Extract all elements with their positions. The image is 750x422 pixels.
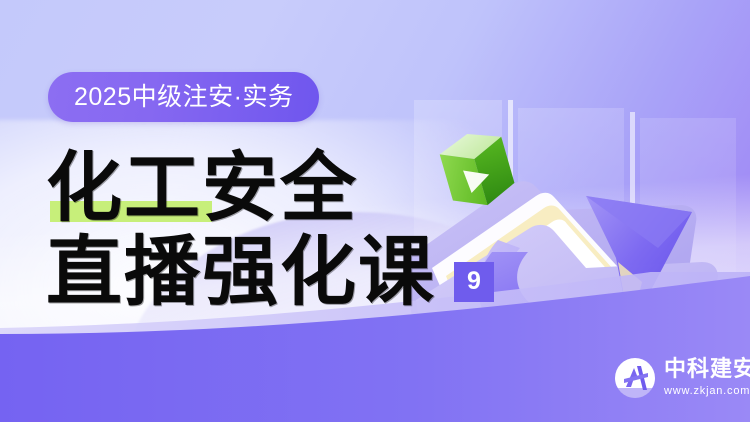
brand-name: 中科建安 (664, 356, 750, 381)
brand-logo[interactable]: 中科建安 www.zkjan.com (614, 357, 750, 399)
headline-row-2: 直播强化课 9 (46, 236, 494, 310)
brand-url: www.zkjan.com (664, 385, 750, 397)
headline-line-1: 化工安全 (46, 152, 358, 226)
brand-text: 中科建安 www.zkjan.com (664, 357, 750, 399)
headline-line-2: 直播强化课 (46, 236, 436, 310)
course-tag-label: 2025中级注安·实务 (74, 85, 293, 110)
zkjan-circle-logo-icon (614, 357, 656, 399)
episode-number-badge: 9 (454, 262, 494, 302)
course-promo-banner: 2025中级注安·实务 化工安全 直播强化课 9 中科建安 www.zkjan.… (0, 0, 750, 422)
headline-row-1: 化工安全 (46, 152, 494, 226)
headline-block: 化工安全 直播强化课 9 (46, 152, 494, 311)
course-tag-badge: 2025中级注安·实务 (48, 72, 319, 122)
